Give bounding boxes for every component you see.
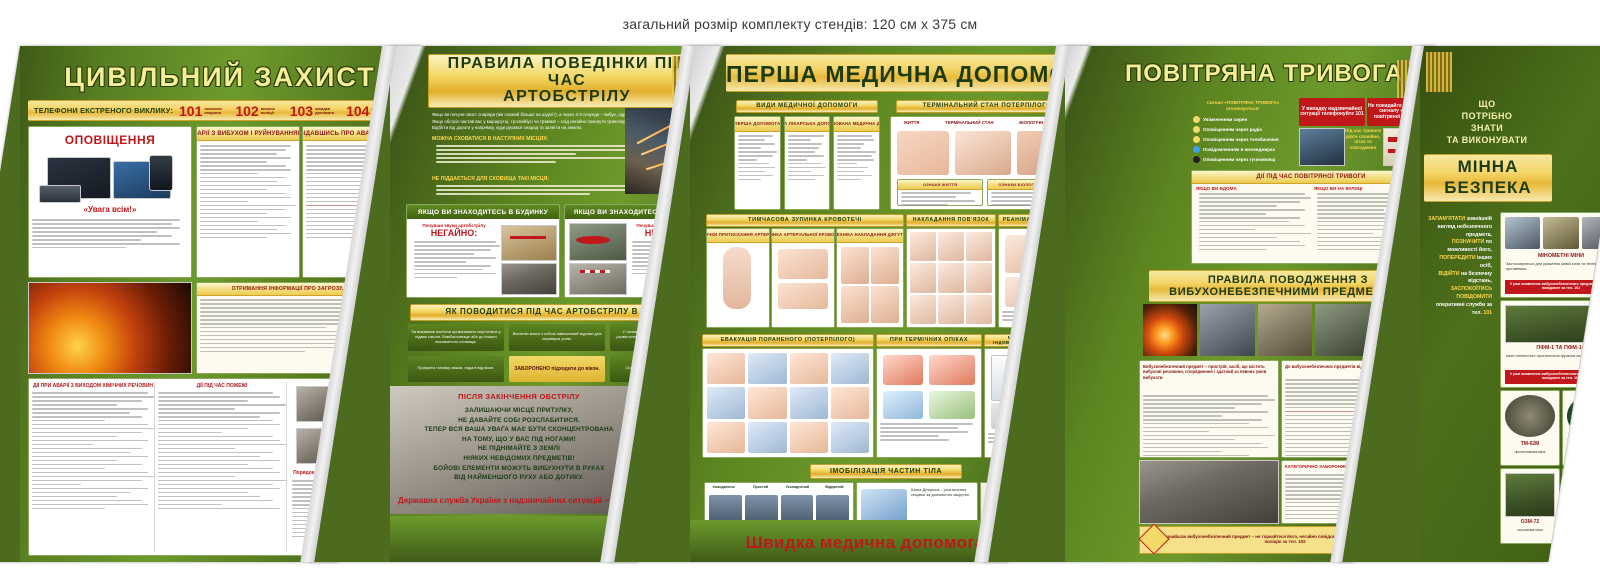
splint-caption: Шина Дітерікса – розтягнення кінцівки за… (911, 487, 973, 497)
corridor-photo (501, 263, 557, 295)
ordnance-photo-2 (1258, 304, 1312, 356)
basement-photo (501, 225, 557, 261)
panel5-subtitle-line4: ТА ВИКОНУВАТИ (1428, 134, 1546, 146)
phone-number-102: 102 (235, 103, 258, 119)
card-artery-points[interactable]: ТОЧКИ ПРИТИСКАННЯ АРТЕРІЙ (706, 228, 770, 328)
card-burns[interactable] (876, 348, 982, 458)
stand-set-board: ЦИВІЛЬНИЙ ЗАХИСТ ТЕЛЕФОНИ ЕКСТРЕНОГО ВИК… (0, 46, 1600, 562)
phone-desc-102: виклик поліції (261, 107, 285, 115)
card-explosion-heading: АВАРІЇ З ВИБУХОМ І РУЙНУВАННЯМИ (197, 127, 299, 141)
instr-2-accent: ПОЗНАЧИТИ (1452, 239, 1484, 245)
instr-3-text: інших осіб, (1477, 255, 1492, 269)
fire-photo (28, 282, 192, 374)
after-line-7: БОЙОВІ ЕЛЕМЕНТИ МОЖУТЬ ВИБУХНУТИ В РУКАХ (404, 464, 634, 474)
tm62m-caption: протитанкова міна (1505, 450, 1555, 454)
school-step-4[interactable]: Прикрити головку мішка, подалі від вікон… (408, 356, 504, 383)
aid-type-3[interactable]: СПЕЦІАЛІЗОВАНА МЕДИЧНА ДОПОМОГА (833, 116, 880, 210)
aid-type-3-label: СПЕЦІАЛІЗОВАНА МЕДИЧНА ДОПОМОГА (834, 117, 879, 132)
bleeding-heading: ТИМЧАСОВА ЗУПИНКА КРОВОТЕЧІ (706, 214, 904, 227)
panel5-subtitle: ЩО ПОТРІБНО ЗНАТИ ТА ВИКОНУВАТИ (1428, 98, 1546, 147)
phone-desc-103: швидка допомога (315, 107, 341, 115)
immob-col-3: Ускладнений (779, 485, 816, 489)
card-pom2[interactable]: ПОМ-2 протипіхотна осколкова міна (1562, 468, 1600, 544)
actions-col-1-heading: ДІЇ ПРИ АВАРІЇ З ВИХОДОМ ХІМІЧНИХ РЕЧОВИ… (32, 383, 154, 389)
card-tm62m[interactable]: ТМ-62М протитанкова міна (1500, 390, 1560, 466)
panel2-hide-list (436, 145, 636, 165)
ozm72-photo (1505, 473, 1555, 517)
body-diagram (723, 247, 751, 309)
instr-5-accent: ЗАСПОКОЇТИСЬ (1451, 286, 1492, 292)
burn-illus-1 (883, 355, 923, 385)
actions-col-2: ДІЇ ПІД ЧАС ПОЖЕЖІ (158, 382, 287, 552)
during-caption: Під час тривоги дійте спокійно, чітко та… (1345, 128, 1381, 150)
after-shelling-heading: ПІСЛЯ ЗАКІНЧЕННЯ ОБСТРІЛУ (404, 392, 634, 401)
mortar-danger-note: У разі виявлення вибухонебезпечного пред… (1505, 280, 1600, 294)
signal-item-2: Оповіщенням через радіо (1203, 127, 1262, 132)
panel5-subtitle-line2: ПОТРІБНО (1428, 110, 1546, 122)
signal-item-4: Повідомленням в месенджерах (1203, 147, 1275, 152)
after-shelling-block: ПІСЛЯ ЗАКІНЧЕННЯ ОБСТРІЛУ ЗАЛИШАЮЧИ МІСЦ… (404, 392, 634, 483)
card-explosion-accident[interactable]: АВАРІЇ З ВИБУХОМ І РУЙНУВАННЯМИ (196, 126, 300, 278)
card-explosives-definition[interactable]: Вибухонебезпечний предмет – пристрій, за… (1139, 360, 1279, 458)
tm62m-label: ТМ-62М (1501, 441, 1559, 447)
panel2-subhead-nohide: НЕ ПІДДАЄТЬСЯ ДЛЯ СХОВИЩА ТАКІ МІСЦЯ: (432, 176, 549, 182)
ozm72-label: ОЗМ-72 (1501, 519, 1559, 525)
pmn2-label: ПМН-2 (1563, 441, 1600, 447)
blast-photo (1143, 304, 1197, 356)
phone-icon (149, 155, 173, 191)
mine-instructions: ЗАПАМ'ЯТАТИ зовнішній вигляд небезпечног… (1428, 216, 1492, 317)
card-pmn2[interactable]: ПМН-2 протипіхотна фугасна міна (1562, 390, 1600, 466)
panel2-nohide-list (436, 185, 656, 197)
street-photo (569, 223, 627, 261)
immobilization-heading: ІМОБІЛІЗАЦІЯ ЧАСТИН ТІЛА (810, 464, 962, 479)
panel5-title: МІННА БЕЗПЕКА (1424, 156, 1552, 199)
card-in-building[interactable]: ЯКЩО ВИ ЗНАХОДИТЕСЬ В БУДИНКУ Почувши зв… (406, 204, 560, 298)
tm62m-photo (1505, 395, 1555, 437)
immob-col-4: Відкритий (816, 485, 853, 489)
explosives-def-head: Вибухонебезпечний предмет – пристрій, за… (1143, 364, 1275, 380)
card-arterial-stop[interactable]: ЗУПИНКА АРТЕРІАЛЬНОЇ КРОВОТЕЧІ (771, 228, 835, 328)
burn-illus-2 (929, 355, 975, 385)
actions-col-2-heading: ДІЇ ПІД ЧАС ПОЖЕЖІ (158, 383, 286, 389)
messenger-icon (1193, 146, 1200, 153)
panel5-subtitle-line3: ЗНАТИ (1428, 122, 1546, 134)
card-notification-heading: ОПОВІЩЕННЯ (29, 133, 191, 147)
bandages-heading: НАКЛАДАННЯ ПОВ'ЯЗОК (906, 214, 996, 227)
after-line-3: ТЕПЕР ВСЯ ВАША УВАГА МАЄ БУТИ СКОНЦЕНТРО… (404, 425, 634, 435)
tourniquet-label: ТЕХНІКА НАКЛАДАННЯ ДЖГУТА (837, 229, 903, 243)
card-pfm-mines[interactable]: ПФМ-1 ТА ПФМ-1С міна-«пелюстка» протипіх… (1500, 300, 1600, 388)
destroyed-building-photo (1139, 460, 1279, 524)
school-step-1[interactable]: За вказівкою вчителя організовано спусти… (408, 324, 504, 351)
laptop-icon (39, 185, 81, 203)
card-tourniquet[interactable]: ТЕХНІКА НАКЛАДАННЯ ДЖГУТА (836, 228, 904, 328)
pfm-photo (1505, 305, 1600, 343)
panel5-title-line1: МІННА (1424, 156, 1552, 177)
after-line-1: ЗАЛИШАЮЧИ МІСЦЕ ПРИТУЛКУ, (404, 406, 634, 416)
pfm-caption: міна-«пелюстка» протипіхотна фугасна нат… (1506, 354, 1600, 359)
aid-type-2-label: ПЕРША ЛІКАРСЬКА ДОПОМОГА (785, 117, 830, 132)
mortar-mines-label: МІНОМЕТНІ МІНИ (1501, 253, 1600, 259)
terminal-label-life: ЖИТТЯ (904, 120, 920, 125)
pfm-label: ПФМ-1 ТА ПФМ-1С (1501, 345, 1600, 351)
card-notification[interactable]: ОПОВІЩЕННЯ «Увага всім!» (28, 126, 192, 278)
instr-4-text: на безпечну відстань, (1461, 271, 1492, 285)
after-line-8: ВІД НАЙМЕНШОГО РУХУ АБО ДОТИКУ. (404, 473, 634, 483)
attention-all-label: «Увага всім!» (29, 205, 191, 214)
immob-col-2: Простий (742, 485, 779, 489)
panel5-title-line2: БЕЗПЕКА (1424, 177, 1552, 198)
instr-7-accent: 101 (1483, 310, 1492, 316)
phone-number-101: 101 (179, 103, 202, 119)
tv-broadcast-icon (1193, 136, 1200, 143)
signal-items: Увімкненням сирен Оповіщенням через раді… (1193, 116, 1297, 163)
radio-icon (1193, 126, 1200, 133)
loudspeaker-icon (1193, 156, 1200, 163)
card-bandages[interactable] (906, 228, 996, 328)
signal-head: Сигнал «ПОВІТРЯНА ТРИВОГА» оголошується: (1195, 100, 1291, 111)
aid-types-heading: ВИДИ МЕДИЧНОЇ ДОПОМОГИ (736, 100, 878, 113)
panel2-title-line2: АРТОБСТРІЛУ (503, 89, 631, 106)
phone-desc-101: пожежна охорона (204, 107, 230, 115)
terminal-illus-1 (897, 131, 949, 175)
signal-item-3: Оповіщенням через телебачення (1203, 137, 1279, 142)
panel2-subhead-hide: МОЖНА СХОВАТИСЯ В НАСТУПНИХ МІСЦЯХ: (432, 136, 549, 142)
panel5-subtitle-line1: ЩО (1428, 98, 1546, 110)
in-building-lead2: НЕГАЙНО: (411, 228, 497, 238)
actions-col-1: ДІЇ ПРИ АВАРІЇ З ВИХОДОМ ХІМІЧНИХ РЕЧОВИ… (32, 382, 155, 552)
card-explosion-text (200, 145, 296, 241)
aid-type-2[interactable]: ПЕРША ЛІКАРСЬКА ДОПОМОГА (784, 116, 831, 210)
pmn2-photo (1567, 395, 1600, 437)
siren-icon (1193, 116, 1200, 123)
burn-illus-4 (929, 391, 975, 419)
card-mortar-mines[interactable]: МІНОМЕТНІ МІНИ Застосовуються для уражен… (1500, 212, 1600, 298)
instr-6-accent: ПОВІДОМИТИ (1456, 294, 1492, 300)
card-in-building-heading: ЯКЩО ВИ ЗНАХОДИТЕСЬ В БУДИНКУ (407, 205, 559, 219)
aid-types-row: ПЕРША ДОПОМОГА ПЕРША ЛІКАРСЬКА ДОПОМОГА … (734, 116, 880, 210)
arterial-stop-label: ЗУПИНКА АРТЕРІАЛЬНОЇ КРОВОТЕЧІ (772, 229, 834, 243)
arterial-illus-1 (778, 249, 828, 279)
card-ozm72[interactable]: ОЗМ-72 осколкова міна (1500, 468, 1560, 544)
ordnance-photo-1 (1200, 304, 1254, 356)
terminal-label-state: ТЕРМІНАЛЬНИЙ СТАН (945, 120, 994, 125)
ozm72-caption: осколкова міна (1505, 528, 1555, 532)
panel4-title: ПОВІТРЯНА ТРИВОГА (1125, 60, 1395, 88)
pom2-photo (1567, 473, 1600, 515)
after-line-5: НЕ ПІДНІМАЙТЕ З ЗЕМЛІ (404, 444, 634, 454)
mortar-mines-caption: Застосовуються для ураження живої сили т… (1506, 262, 1600, 271)
aid-type-1-label: ПЕРША ДОПОМОГА (735, 117, 780, 132)
during-col-1: ЯКЩО ВИ ВДОМА (1196, 186, 1308, 191)
panel5-hatch-decor (1426, 52, 1452, 92)
artery-points-label: ТОЧКИ ПРИТИСКАННЯ АРТЕРІЙ (707, 229, 769, 243)
signal-item-1: Увімкненням сирен (1203, 117, 1247, 122)
school-step-forbidden[interactable]: ЗАБОРОНЕНО підходити до вікон. (509, 356, 605, 383)
terminal-illus-2 (955, 131, 1011, 175)
immob-col-1: Ушкодження (705, 485, 742, 489)
pfm-danger-note: У разі виявлення вибухонебезпечного пред… (1505, 370, 1600, 384)
panel1-title: ЦИВІЛЬНИЙ ЗАХИСТ (20, 62, 420, 93)
card-evacuation[interactable] (702, 348, 874, 458)
instr-1-accent: ЗАПАМ'ЯТАТИ (1428, 216, 1465, 222)
pom2-label: ПОМ-2 (1563, 519, 1600, 525)
panel3-title: ПЕРША МЕДИЧНА ДОПОМОГА (726, 61, 1078, 88)
phone-number-103: 103 (290, 103, 313, 119)
siren-photo (1299, 128, 1345, 166)
phone-number-104: 104 (346, 103, 369, 119)
school-step-2[interactable]: Вчителю взяти з собою навчальний журнал … (509, 324, 605, 351)
instr-3-accent: ПОПЕРЕДИТИ (1439, 255, 1475, 261)
signs-of-life-label: ОЗНАКИ ЖИТТЯ (898, 180, 982, 190)
after-line-6: НІЯКИХ НЕВІДОМИХ ПРЕДМЕТІВ! (404, 454, 634, 464)
alert-box-emergency: У випадку надзвичайної ситуації телефону… (1299, 98, 1365, 126)
after-line-2: НЕ ДАВАЙТЕ СОБІ РОЗСЛАБИТИСЯ. (404, 416, 634, 426)
card-notification-text (32, 219, 188, 251)
barrier-photo (569, 263, 627, 295)
arterial-illus-2 (778, 283, 828, 309)
signal-item-5: Оповіщенням через гучномовці (1203, 157, 1275, 162)
burns-heading: ПРИ ТЕРМІЧНИХ ОПІКАХ (876, 334, 982, 347)
aid-type-1[interactable]: ПЕРША ДОПОМОГА (734, 116, 781, 210)
evacuation-heading: ЕВАКУАЦІЯ ПОРАНЕНОГО (ПОТЕРПІЛОГО) (702, 334, 874, 347)
ordnance-photo-3 (1315, 304, 1369, 356)
panel2-title-line1: ПРАВИЛА ПОВЕДІНКИ ПІД ЧАС (429, 56, 705, 90)
pmn2-caption: протипіхотна фугасна міна (1567, 450, 1600, 454)
panel2-title-plate: ПРАВИЛА ПОВЕДІНКИ ПІД ЧАС АРТОБСТРІЛУ (428, 54, 706, 108)
burn-illus-3 (883, 391, 923, 419)
emergency-phone-bar: ТЕЛЕФОНИ ЕКСТРЕНОГО ВИКЛИКУ: 101 пожежна… (28, 100, 410, 121)
after-line-4: НА ТОМУ, ЩО У ВАС ПІД НОГАМИ! (404, 435, 634, 445)
instr-4-accent: ВІДІЙТИ (1439, 271, 1460, 277)
overall-size-caption: загальний розмір комплекту стендів: 120 … (0, 16, 1600, 32)
pom2-caption: протипіхотна осколкова міна (1567, 528, 1600, 532)
emergency-phone-label: ТЕЛЕФОНИ ЕКСТРЕНОГО ВИКЛИКУ: (34, 106, 173, 115)
